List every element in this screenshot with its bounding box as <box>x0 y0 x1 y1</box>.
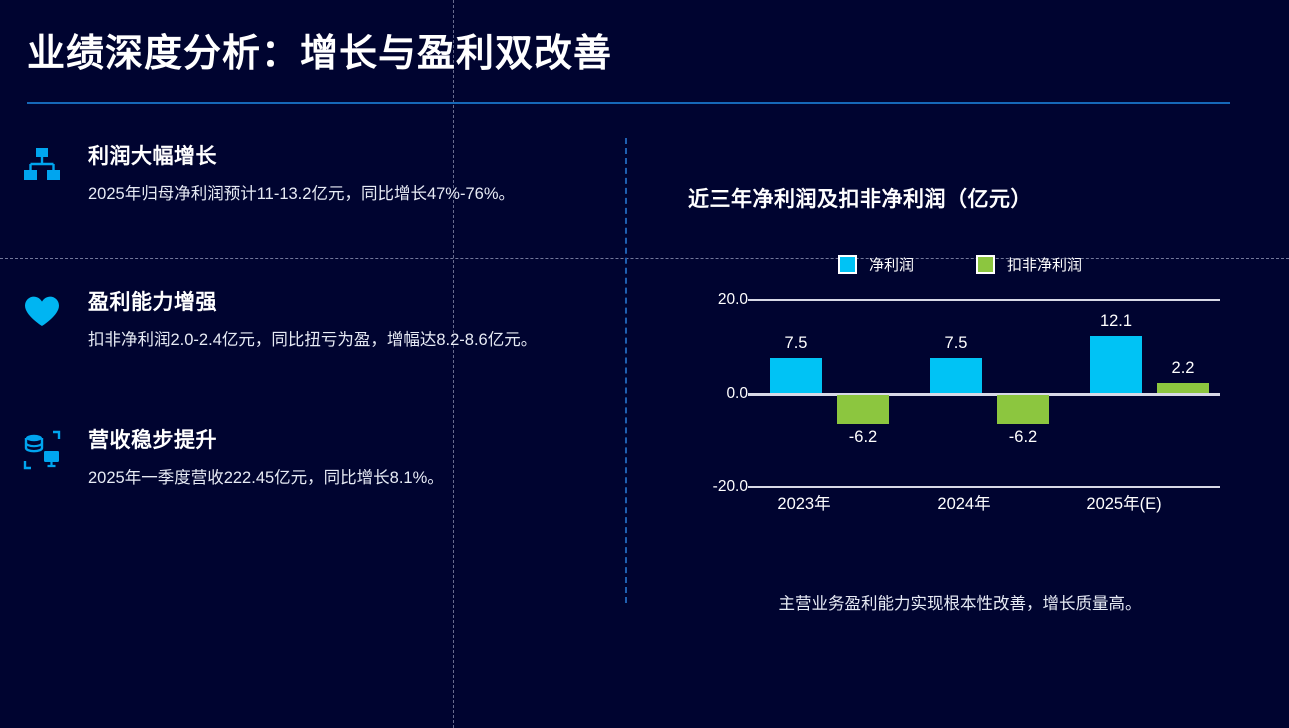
legend-entry-deducted-profit: 扣非净利润 <box>976 254 1082 275</box>
legend-swatch-deducted-profit <box>976 255 995 274</box>
bar-net-profit-2023: 7.5 <box>770 358 822 393</box>
gridline-bottom <box>748 486 1220 488</box>
bar-value: -6.2 <box>823 428 903 447</box>
legend-label: 净利润 <box>869 254 914 275</box>
feature-item-revenue-growth: 营收稳步提升 2025年一季度营收222.45亿元，同比增长8.1%。 <box>20 424 610 520</box>
feature-item-profit-growth: 利润大幅增长 2025年归母净利润预计11-13.2亿元，同比增长47%-76%… <box>20 140 610 236</box>
y-axis-tick-top: 20.0 <box>668 291 748 309</box>
x-axis-label-2025e: 2025年(E) <box>1054 490 1194 514</box>
chart-note: 主营业务盈利能力实现根本性改善，增长质量高。 <box>660 590 1260 614</box>
bar-value: 7.5 <box>756 334 836 353</box>
heart-icon <box>22 292 62 332</box>
bar-value: 2.2 <box>1143 359 1223 378</box>
bar-value: 12.1 <box>1076 312 1156 331</box>
gridline-top <box>748 299 1220 301</box>
chart-panel: 近三年净利润及扣非净利润（亿元） 净利润 扣非净利润 20.0 0.0 -20.… <box>660 138 1260 638</box>
database-monitor-icon <box>22 430 62 470</box>
chart-legend: 净利润 扣非净利润 <box>660 254 1260 275</box>
features-list: 利润大幅增长 2025年归母净利润预计11-13.2亿元，同比增长47%-76%… <box>20 140 610 570</box>
feature-heading: 盈利能力增强 <box>88 286 610 316</box>
legend-swatch-net-profit <box>838 255 857 274</box>
feature-heading: 营收稳步提升 <box>88 424 610 454</box>
feature-description: 扣非净利润2.0-2.4亿元，同比扭亏为盈，增幅达8.2-8.6亿元。 <box>88 328 610 354</box>
feature-item-profitability: 盈利能力增强 扣非净利润2.0-2.4亿元，同比扭亏为盈，增幅达8.2-8.6亿… <box>20 286 610 382</box>
bar-value: -6.2 <box>983 428 1063 447</box>
title-divider <box>27 102 1230 104</box>
legend-entry-net-profit: 净利润 <box>838 254 914 275</box>
bar-value: 7.5 <box>916 334 996 353</box>
x-axis-label-2023: 2023年 <box>734 490 874 514</box>
bar-deducted-profit-2023: -6.2 <box>837 395 889 424</box>
feature-description: 2025年一季度营收222.45亿元，同比增长8.1%。 <box>88 466 610 492</box>
chart-title: 近三年净利润及扣非净利润（亿元） <box>688 183 1032 213</box>
page-title: 业绩深度分析：增长与盈利双改善 <box>27 22 612 77</box>
gridline-zero <box>748 393 1220 396</box>
bar-deducted-profit-2025e: 2.2 <box>1157 383 1209 393</box>
feature-description: 2025年归母净利润预计11-13.2亿元，同比增长47%-76%。 <box>88 182 610 208</box>
chart-plot-area: 20.0 0.0 -20.0 7.5 -6.2 2023年 7.5 -6.2 2… <box>660 290 1260 540</box>
x-axis-label-2024: 2024年 <box>894 490 1034 514</box>
panel-divider <box>625 138 627 603</box>
y-axis-tick-zero: 0.0 <box>668 385 748 403</box>
sitemap-icon <box>22 146 62 186</box>
feature-heading: 利润大幅增长 <box>88 140 610 170</box>
legend-label: 扣非净利润 <box>1007 254 1082 275</box>
bar-net-profit-2025e: 12.1 <box>1090 336 1142 393</box>
bar-deducted-profit-2024: -6.2 <box>997 395 1049 424</box>
bar-net-profit-2024: 7.5 <box>930 358 982 393</box>
